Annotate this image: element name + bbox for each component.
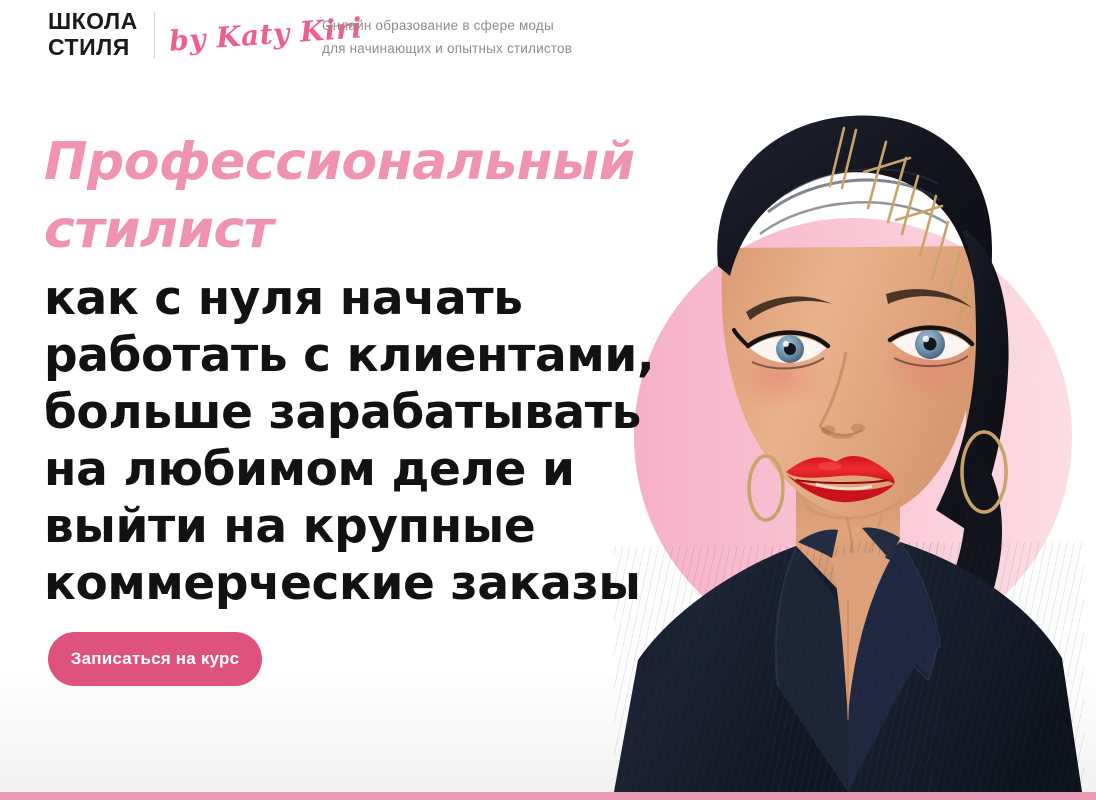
logo[interactable]: ШКОЛА СТИЛЯ by Katy Kiri xyxy=(48,10,362,59)
headline-main: как с нуля начать работать с клиентами, … xyxy=(44,270,644,612)
logo-line-2: СТИЛЯ xyxy=(48,36,138,59)
tagline-line-1: Онлайн образование в сфере моды xyxy=(322,14,572,37)
site-tagline: Онлайн образование в сфере моды для начи… xyxy=(322,14,572,60)
headline-main-line-2: работать с клиентами, xyxy=(44,327,644,384)
headline-main-line-1: как с нуля начать xyxy=(44,270,644,327)
tagline-line-2: для начинающих и опытных стилистов xyxy=(322,37,572,60)
blazer-shape xyxy=(614,527,1084,792)
landing-page: ШКОЛА СТИЛЯ by Katy Kiri Онлайн образова… xyxy=(0,0,1096,800)
logo-wordmark: ШКОЛА СТИЛЯ xyxy=(48,10,138,59)
logo-line-1: ШКОЛА xyxy=(48,10,138,33)
headline-accent-line-1: Профессиональный xyxy=(44,128,644,196)
model-photo xyxy=(600,80,1096,792)
headline-main-line-6: коммерческие заказы xyxy=(44,555,644,612)
headline-main-line-3: больше зарабатывать xyxy=(44,384,644,441)
hero-visual xyxy=(600,80,1096,792)
headline-main-line-4: на любимом деле и xyxy=(44,441,644,498)
headline-accent: Профессиональный стилист xyxy=(44,128,644,264)
site-header: ШКОЛА СТИЛЯ by Katy Kiri Онлайн образова… xyxy=(0,0,1096,80)
enroll-course-button[interactable]: Записаться на курс xyxy=(48,632,262,686)
headline-main-line-5: выйти на крупные xyxy=(44,498,644,555)
hero-copy: Профессиональный стилист как с нуля нача… xyxy=(44,128,644,612)
vertical-divider-icon xyxy=(154,12,155,58)
headline-accent-line-2: стилист xyxy=(44,196,644,264)
bottom-accent-strip xyxy=(0,792,1096,800)
